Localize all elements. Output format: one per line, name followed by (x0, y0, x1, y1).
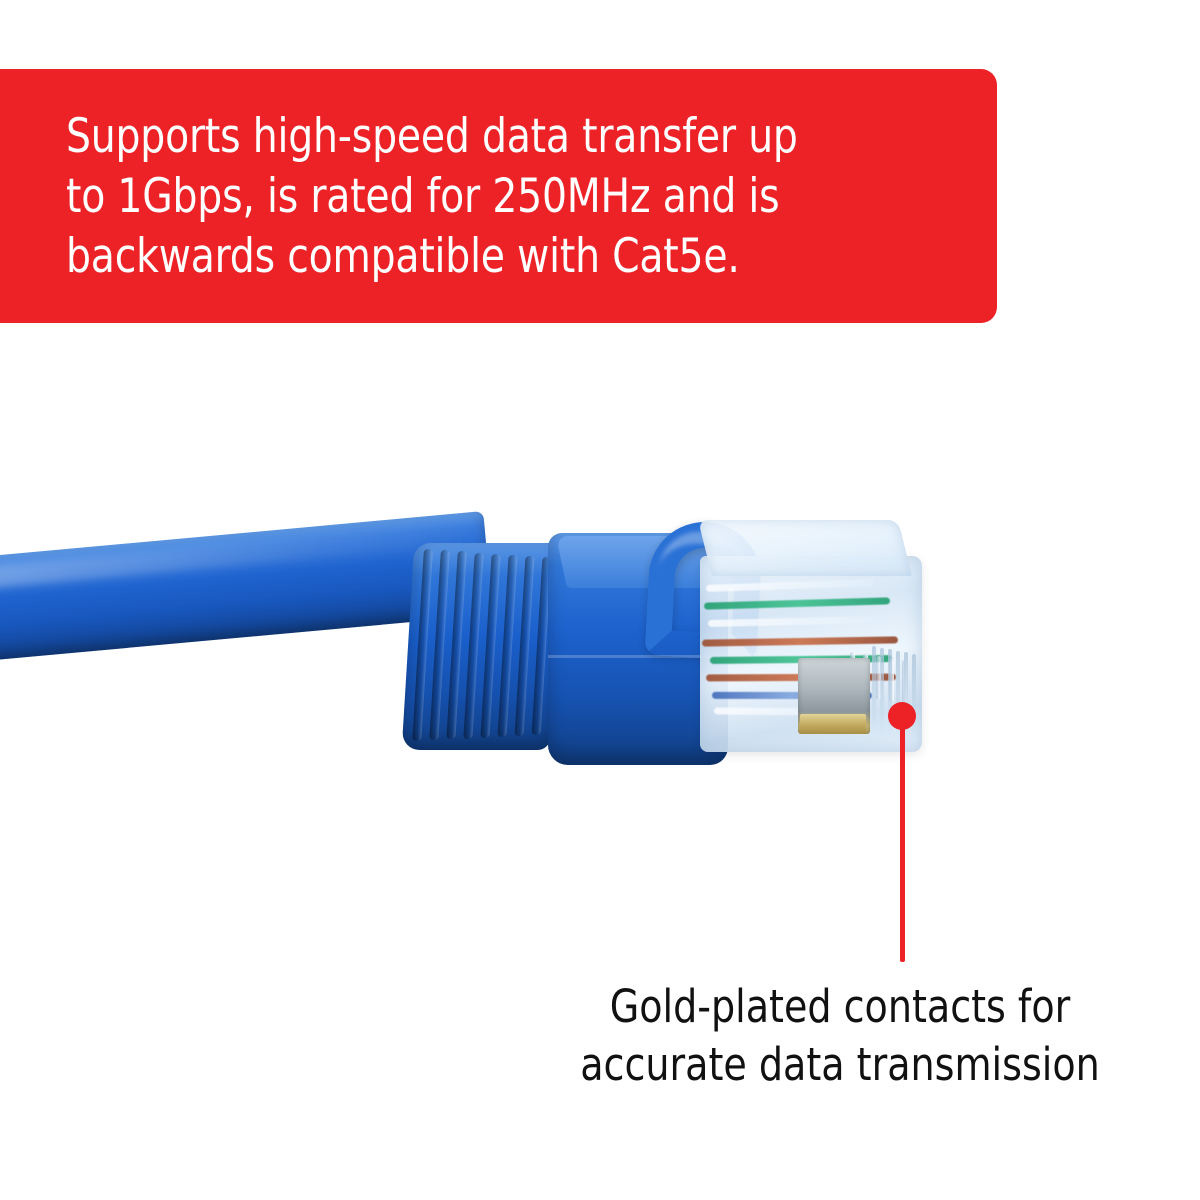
product-feature-image: Supports high-speed data transfer up to … (0, 0, 1200, 1200)
gold-plated-contacts (800, 714, 866, 734)
gold-contacts-caption: Gold-plated contacts for accurate data t… (445, 978, 1200, 1094)
product-photo (0, 440, 1200, 860)
conductor-wire (708, 616, 886, 627)
conductor-wire (706, 579, 874, 592)
boot-rib (412, 549, 433, 741)
boot-rib (463, 553, 483, 739)
conductor-wire (702, 636, 898, 646)
boot-rib (480, 554, 500, 738)
boot-rib (446, 551, 466, 739)
boot-rib (429, 550, 450, 740)
rj45-plug-top-face (698, 520, 912, 576)
conductor-wire (704, 597, 890, 609)
boot-rib (497, 555, 517, 737)
strain-relief-boot-ribs (402, 543, 563, 750)
contact-fin (872, 646, 876, 734)
contact-fin (912, 654, 916, 742)
feature-callout-banner: Supports high-speed data transfer up to … (0, 69, 997, 323)
boot-rib (515, 556, 535, 736)
banner-text: Supports high-speed data transfer up to … (66, 107, 903, 287)
callout-leader-line (900, 722, 905, 962)
contact-fin (880, 648, 884, 736)
